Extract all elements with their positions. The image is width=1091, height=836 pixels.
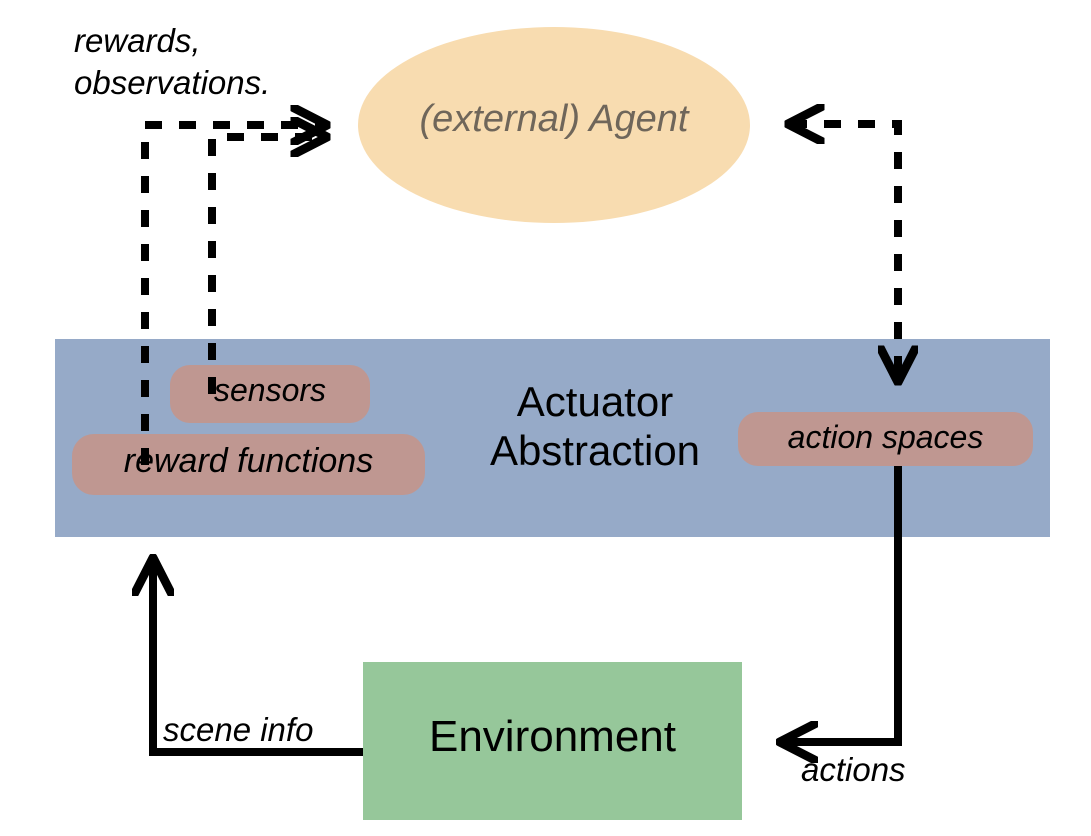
diagram-canvas: rewards, observations. (external) Agent … [0, 0, 1091, 836]
observations-label-line2: observations. [74, 62, 270, 104]
reward-functions-pill-label: reward functions [72, 442, 425, 480]
actuator-abstraction-line2: Abstraction [455, 427, 735, 476]
scene-info-label: scene info [163, 712, 313, 749]
actions-label: actions [801, 752, 906, 789]
action-spaces-pill-label: action spaces [738, 420, 1033, 456]
rewards-label-line1: rewards, [74, 20, 270, 62]
rewards-observations-label: rewards, observations. [74, 20, 270, 104]
actuator-abstraction-label: Actuator Abstraction [455, 378, 735, 475]
actuator-abstraction-line1: Actuator [455, 378, 735, 427]
agent-label: (external) Agent [358, 98, 750, 141]
sensors-pill-label: sensors [170, 373, 370, 409]
environment-label: Environment [363, 712, 742, 761]
